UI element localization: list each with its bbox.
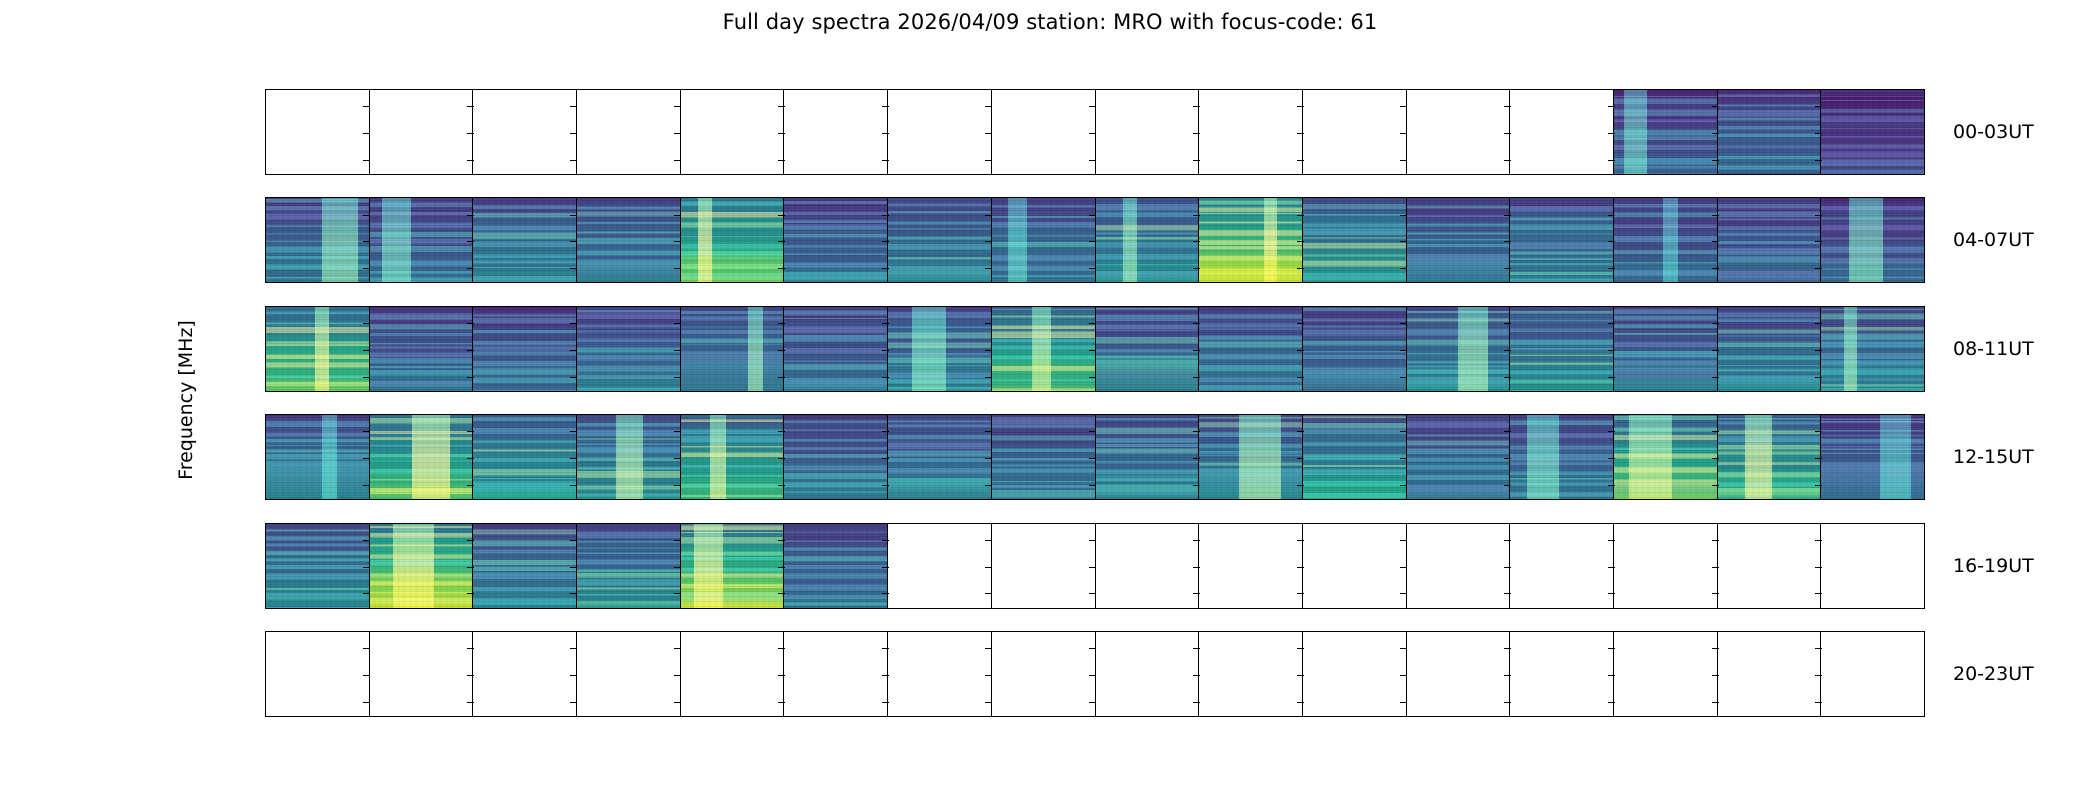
- y-tick-mark-inner: [467, 323, 474, 324]
- spectrogram-texture: [992, 198, 1095, 282]
- y-tick-mark-inner: [1400, 675, 1407, 676]
- y-tick-mark-inner: [1608, 540, 1615, 541]
- spectrogram-subpanel-empty[interactable]: [1199, 632, 1303, 716]
- y-tick-mark-inner: [778, 648, 785, 649]
- y-tick-mark: [265, 350, 266, 351]
- spectrogram-subpanel-empty[interactable]: [992, 90, 1096, 174]
- spectrogram-subpanel[interactable]: [1718, 198, 1822, 282]
- spectrogram-subpanel-empty[interactable]: [1510, 90, 1614, 174]
- y-tick-mark-inner: [778, 567, 785, 568]
- y-tick-mark-inner: [1815, 133, 1822, 134]
- spectrogram-subpanel-empty[interactable]: [266, 632, 370, 716]
- spectrogram-texture: [1718, 198, 1821, 282]
- y-tick-mark-inner: [467, 540, 474, 541]
- y-tick-mark-inner: [1089, 540, 1096, 541]
- y-tick-mark-inner: [985, 593, 992, 594]
- spectrogram-texture: [1614, 198, 1717, 282]
- x-tick-mark: [577, 716, 578, 717]
- time-column-texture: [681, 524, 784, 608]
- y-tick-mark-inner: [1297, 268, 1304, 269]
- y-tick-mark-inner: [1712, 431, 1719, 432]
- spectrogram-subpanel[interactable]: [370, 415, 474, 499]
- spectrogram-texture: [1821, 90, 1924, 174]
- y-tick-mark-inner: [778, 458, 785, 459]
- y-tick-mark-inner: [985, 567, 992, 568]
- spectrogram-texture: [370, 307, 473, 391]
- y-tick-mark-inner: [882, 540, 889, 541]
- y-tick-mark-inner: [1089, 160, 1096, 161]
- y-tick-mark-inner: [363, 702, 370, 703]
- time-column-texture: [1096, 198, 1199, 282]
- y-tick-mark-inner: [1400, 567, 1407, 568]
- spectrogram-subpanel-empty[interactable]: [784, 632, 888, 716]
- y-tick-mark-inner: [882, 160, 889, 161]
- y-tick-mark-inner: [1608, 702, 1615, 703]
- y-tick-mark-inner: [1608, 323, 1615, 324]
- spectrogram-texture: [473, 415, 576, 499]
- y-tick-mark-inner: [1297, 648, 1304, 649]
- y-tick-mark: [265, 215, 266, 216]
- y-tick-mark-inner: [778, 268, 785, 269]
- y-tick-mark-inner: [778, 106, 785, 107]
- y-tick-mark-inner: [467, 215, 474, 216]
- spectrogram-subpanel[interactable]: [577, 524, 681, 608]
- spectrogram-subpanel-empty[interactable]: [1821, 632, 1924, 716]
- y-tick-mark-inner: [1400, 323, 1407, 324]
- y-tick-mark-inner: [985, 675, 992, 676]
- spectrogram-subpanel-empty[interactable]: [681, 632, 785, 716]
- y-tick-mark-inner: [985, 268, 992, 269]
- y-tick-mark-inner: [778, 350, 785, 351]
- spectrogram-texture: [1407, 307, 1510, 391]
- time-column-texture: [1821, 415, 1924, 499]
- time-column-texture: [1407, 307, 1510, 391]
- spectrogram-subpanel[interactable]: [266, 524, 370, 608]
- y-tick-mark-inner: [363, 377, 370, 378]
- spectrogram-subpanel-empty[interactable]: [1821, 524, 1924, 608]
- spectrogram-subpanel[interactable]: [1303, 415, 1407, 499]
- spectrogram-texture: [1303, 415, 1406, 499]
- x-tick-mark: [1407, 716, 1408, 717]
- spectrogram-subpanel[interactable]: [1821, 90, 1924, 174]
- y-tick-mark-inner: [674, 485, 681, 486]
- spectrogram-subpanel-empty[interactable]: [473, 632, 577, 716]
- spectrogram-subpanel[interactable]: [681, 524, 785, 608]
- y-tick-mark-inner: [363, 648, 370, 649]
- y-tick-mark-inner: [363, 593, 370, 594]
- spectrogram-subpanel[interactable]: [681, 307, 785, 391]
- time-column-texture: [266, 198, 369, 282]
- spectrogram-texture: [577, 524, 680, 608]
- y-tick-mark: [265, 323, 266, 324]
- y-tick-mark-inner: [1815, 540, 1822, 541]
- y-tick-mark-inner: [1608, 377, 1615, 378]
- y-tick-mark-inner: [1712, 268, 1719, 269]
- y-tick-mark-inner: [674, 648, 681, 649]
- y-tick-mark-inner: [1608, 106, 1615, 107]
- spectrogram-subpanel[interactable]: [1407, 415, 1511, 499]
- y-tick-mark: [265, 648, 266, 649]
- y-tick-mark-inner: [1193, 458, 1200, 459]
- y-tick-mark: [265, 567, 266, 568]
- y-tick-mark-inner: [778, 675, 785, 676]
- y-tick-mark-inner: [882, 377, 889, 378]
- y-tick-mark-inner: [1712, 323, 1719, 324]
- y-tick-mark-inner: [363, 485, 370, 486]
- y-tick-mark-inner: [1400, 593, 1407, 594]
- time-column-texture: [1096, 307, 1199, 391]
- y-tick-mark-inner: [1400, 215, 1407, 216]
- spectrogram-subpanel-empty[interactable]: [992, 632, 1096, 716]
- y-tick-mark-inner: [1608, 160, 1615, 161]
- spectrogram-subpanel[interactable]: [473, 415, 577, 499]
- spectrogram-subpanel[interactable]: [1614, 415, 1718, 499]
- y-tick-mark-inner: [1712, 567, 1719, 568]
- spectrogram-subpanel[interactable]: [1096, 415, 1200, 499]
- spectrogram-subpanel[interactable]: [888, 415, 992, 499]
- spectrogram-subpanel[interactable]: [888, 198, 992, 282]
- spectrogram-subpanel[interactable]: [888, 307, 992, 391]
- spectrogram-subpanel[interactable]: [1614, 90, 1718, 174]
- time-column-texture: [1096, 415, 1199, 499]
- y-tick-mark-inner: [1089, 675, 1096, 676]
- spectrogram-subpanel[interactable]: [1821, 307, 1924, 391]
- spectrogram-subpanel-empty[interactable]: [577, 90, 681, 174]
- row-label-04-07ut: 04-07UT: [1953, 229, 2034, 251]
- spectrogram-subpanel-empty[interactable]: [1510, 524, 1614, 608]
- y-tick-mark-inner: [467, 106, 474, 107]
- spectrogram-subpanel[interactable]: [1614, 307, 1718, 391]
- y-tick-mark-inner: [674, 567, 681, 568]
- y-tick-mark-inner: [1297, 593, 1304, 594]
- x-tick-mark: [1615, 716, 1616, 717]
- time-column-texture: [1199, 198, 1302, 282]
- spectrogram-row-04-07ut[interactable]: 755025: [265, 197, 1925, 283]
- y-tick-mark-inner: [1089, 458, 1096, 459]
- spectrogram-texture: [473, 198, 576, 282]
- spectrogram-subpanel[interactable]: [784, 524, 888, 608]
- time-column-texture: [473, 524, 576, 608]
- time-column-texture: [1718, 415, 1821, 499]
- y-tick-mark-inner: [1400, 458, 1407, 459]
- y-tick-mark-inner: [363, 215, 370, 216]
- x-tick-mark: [1511, 716, 1512, 717]
- y-tick-mark-inner: [1504, 241, 1511, 242]
- spectrogram-subpanel[interactable]: [992, 198, 1096, 282]
- time-column-texture: [370, 524, 473, 608]
- spectrogram-subpanel-empty[interactable]: [370, 90, 474, 174]
- y-tick-mark-inner: [1815, 268, 1822, 269]
- spectrogram-subpanel-empty[interactable]: [1199, 524, 1303, 608]
- spectrogram-subpanel[interactable]: [1407, 198, 1511, 282]
- spectrogram-subpanel[interactable]: [1407, 307, 1511, 391]
- y-tick-mark-inner: [1504, 702, 1511, 703]
- spectrogram-texture: [1510, 415, 1613, 499]
- y-tick-mark-inner: [570, 350, 577, 351]
- spectrogram-subpanel[interactable]: [266, 307, 370, 391]
- spectrogram-subpanel-empty[interactable]: [1718, 632, 1822, 716]
- y-tick-mark-inner: [363, 241, 370, 242]
- y-tick-mark-inner: [778, 702, 785, 703]
- spectrogram-subpanel-empty[interactable]: [1614, 632, 1718, 716]
- spectrogram-subpanel[interactable]: [1614, 198, 1718, 282]
- y-tick-mark-inner: [1297, 133, 1304, 134]
- spectrogram-subpanel-empty[interactable]: [1303, 90, 1407, 174]
- x-tick-mark: [992, 716, 993, 717]
- spectrogram-texture: [1718, 415, 1821, 499]
- spectrogram-row-00-03ut[interactable]: 755025: [265, 89, 1925, 175]
- spectrogram-subpanel-empty[interactable]: [1096, 632, 1200, 716]
- spectrogram-subpanel[interactable]: [681, 415, 785, 499]
- y-tick-mark-inner: [1504, 133, 1511, 134]
- spectrogram-subpanel[interactable]: [1821, 415, 1924, 499]
- y-tick-mark-inner: [674, 593, 681, 594]
- spectrogram-subpanel-empty[interactable]: [473, 90, 577, 174]
- y-tick-mark-inner: [674, 540, 681, 541]
- time-column-texture: [1303, 415, 1406, 499]
- spectrogram-subpanel[interactable]: [370, 198, 474, 282]
- y-tick-mark-inner: [778, 160, 785, 161]
- spectrogram-subpanel-empty[interactable]: [784, 90, 888, 174]
- y-tick-mark: [265, 106, 266, 107]
- time-column-texture: [992, 198, 1095, 282]
- spectrogram-subpanel-empty[interactable]: [888, 90, 992, 174]
- spectrogram-subpanel[interactable]: [784, 198, 888, 282]
- spectrogram-subpanel-empty[interactable]: [992, 524, 1096, 608]
- spectrogram-texture: [266, 198, 369, 282]
- y-tick-mark-inner: [882, 350, 889, 351]
- spectrogram-texture: [1821, 307, 1924, 391]
- y-tick-mark-inner: [985, 431, 992, 432]
- spectrogram-subpanel[interactable]: [1199, 307, 1303, 391]
- y-tick-mark-inner: [1297, 485, 1304, 486]
- spectrogram-subpanel-empty[interactable]: [577, 632, 681, 716]
- spectrogram-subpanel[interactable]: [1718, 90, 1822, 174]
- y-tick-mark-inner: [985, 377, 992, 378]
- y-tick-mark-inner: [674, 702, 681, 703]
- spectrogram-subpanel-empty[interactable]: [1407, 632, 1511, 716]
- spectrogram-subpanel[interactable]: [473, 198, 577, 282]
- time-column-texture: [888, 198, 991, 282]
- spectrogram-subpanel[interactable]: [473, 307, 577, 391]
- y-tick-mark-inner: [1297, 702, 1304, 703]
- y-tick-mark-inner: [1297, 160, 1304, 161]
- x-tick-mark: [1822, 716, 1823, 717]
- time-column-texture: [1303, 198, 1406, 282]
- y-tick-mark-inner: [1712, 702, 1719, 703]
- y-tick-mark-inner: [882, 485, 889, 486]
- spectrogram-texture: [992, 307, 1095, 391]
- y-tick-mark-inner: [1815, 241, 1822, 242]
- time-column-texture: [1303, 307, 1406, 391]
- y-tick-mark-inner: [1193, 702, 1200, 703]
- y-tick-mark-inner: [1815, 377, 1822, 378]
- spectrogram-texture: [370, 415, 473, 499]
- time-column-texture: [577, 415, 680, 499]
- y-tick-mark-inner: [1089, 567, 1096, 568]
- y-tick-mark-inner: [1504, 377, 1511, 378]
- time-column-texture: [1510, 307, 1613, 391]
- spectrogram-subpanel[interactable]: [1199, 198, 1303, 282]
- spectrogram-row-12-15ut[interactable]: 755025: [265, 414, 1925, 500]
- y-tick-mark-inner: [1400, 485, 1407, 486]
- y-tick-mark-inner: [1712, 160, 1719, 161]
- y-tick-mark-inner: [1297, 675, 1304, 676]
- x-tick-mark: [1200, 716, 1201, 717]
- spectrogram-subpanel-empty[interactable]: [1407, 90, 1511, 174]
- spectrogram-subpanel-empty[interactable]: [888, 632, 992, 716]
- spectrogram-subpanel-empty[interactable]: [370, 632, 474, 716]
- spectrogram-subpanel[interactable]: [1303, 198, 1407, 282]
- spectrogram-subpanel[interactable]: [370, 307, 474, 391]
- y-tick-mark-inner: [467, 241, 474, 242]
- y-tick-mark-inner: [570, 377, 577, 378]
- row-label-16-19ut: 16-19UT: [1953, 555, 2034, 577]
- spectrogram-subpanel[interactable]: [992, 415, 1096, 499]
- spectrogram-texture: [1407, 415, 1510, 499]
- x-tick-mark: [785, 716, 786, 717]
- y-tick-mark-inner: [1712, 133, 1719, 134]
- y-tick-mark-inner: [1712, 106, 1719, 107]
- spectrogram-subpanel-empty[interactable]: [1303, 524, 1407, 608]
- y-tick-mark-inner: [1400, 702, 1407, 703]
- spectrogram-subpanel[interactable]: [992, 307, 1096, 391]
- y-tick-mark: [265, 133, 266, 134]
- y-tick-mark-inner: [985, 215, 992, 216]
- y-tick-mark-inner: [467, 702, 474, 703]
- y-tick-mark-inner: [1608, 350, 1615, 351]
- spectrogram-subpanel-empty[interactable]: [1303, 632, 1407, 716]
- spectrogram-subpanel[interactable]: [784, 415, 888, 499]
- spectrogram-subpanel[interactable]: [1303, 307, 1407, 391]
- y-tick-mark-inner: [985, 106, 992, 107]
- spectrogram-texture: [681, 415, 784, 499]
- spectrogram-subpanel-empty[interactable]: [1199, 90, 1303, 174]
- spectrogram-subpanel-empty[interactable]: [1718, 524, 1822, 608]
- spectrogram-subpanel[interactable]: [1821, 198, 1924, 282]
- spectrogram-subpanel-empty[interactable]: [1614, 524, 1718, 608]
- spectrogram-row-16-19ut[interactable]: 755025: [265, 523, 1925, 609]
- spectrogram-texture: [266, 524, 369, 608]
- y-tick-mark-inner: [1193, 133, 1200, 134]
- spectrogram-texture: [681, 524, 784, 608]
- spectrogram-subpanel-empty[interactable]: [681, 90, 785, 174]
- spectrogram-subpanel[interactable]: [577, 307, 681, 391]
- spectrogram-subpanel-empty[interactable]: [1096, 90, 1200, 174]
- spectrogram-subpanel[interactable]: [1718, 415, 1822, 499]
- y-tick-mark-inner: [1504, 675, 1511, 676]
- spectrogram-subpanel[interactable]: [577, 415, 681, 499]
- spectrogram-subpanel[interactable]: [473, 524, 577, 608]
- y-tick-mark-inner: [674, 160, 681, 161]
- spectrogram-subpanel[interactable]: [370, 524, 474, 608]
- spectrogram-subpanel[interactable]: [1096, 198, 1200, 282]
- y-tick-mark-inner: [1297, 567, 1304, 568]
- y-tick-mark-inner: [1504, 323, 1511, 324]
- y-tick-mark-inner: [1193, 648, 1200, 649]
- y-tick-mark-inner: [1504, 540, 1511, 541]
- y-tick-mark-inner: [363, 458, 370, 459]
- y-tick-mark-inner: [1089, 106, 1096, 107]
- y-tick-mark-inner: [882, 458, 889, 459]
- y-tick-mark-inner: [363, 567, 370, 568]
- y-tick-mark-inner: [467, 567, 474, 568]
- y-tick-mark-inner: [1400, 431, 1407, 432]
- y-tick-mark-inner: [1089, 702, 1096, 703]
- y-tick-mark-inner: [1400, 268, 1407, 269]
- time-column-texture: [784, 415, 887, 499]
- y-tick-mark-inner: [570, 675, 577, 676]
- spectrogram-subpanel-empty[interactable]: [1407, 524, 1511, 608]
- time-column-texture: [473, 307, 576, 391]
- y-tick-mark-inner: [882, 567, 889, 568]
- y-tick-mark-inner: [1815, 323, 1822, 324]
- y-tick-mark-inner: [467, 431, 474, 432]
- spectrogram-subpanel[interactable]: [1510, 415, 1614, 499]
- y-tick-mark-inner: [1193, 567, 1200, 568]
- y-tick-mark-inner: [570, 593, 577, 594]
- y-tick-mark-inner: [674, 268, 681, 269]
- y-tick-mark-inner: [985, 323, 992, 324]
- y-tick-mark-inner: [985, 350, 992, 351]
- x-tick-mark: [370, 716, 371, 717]
- y-tick-mark-inner: [674, 241, 681, 242]
- time-column-texture: [370, 415, 473, 499]
- y-tick-mark-inner: [1608, 485, 1615, 486]
- spectrogram-texture: [1096, 198, 1199, 282]
- spectrogram-subpanel[interactable]: [1510, 198, 1614, 282]
- y-tick-mark-inner: [1089, 485, 1096, 486]
- y-tick-mark-inner: [1089, 648, 1096, 649]
- spectrogram-row-08-11ut[interactable]: 755025: [265, 306, 1925, 392]
- spectrogram-row-20-23ut[interactable]: 75502500153045001530450015304500153045: [265, 631, 1925, 717]
- spectrogram-subpanel-empty[interactable]: [266, 90, 370, 174]
- spectrogram-texture: [1407, 198, 1510, 282]
- y-tick-mark-inner: [467, 160, 474, 161]
- spectrogram-texture: [784, 524, 887, 608]
- y-tick-mark-inner: [778, 323, 785, 324]
- spectrogram-subpanel[interactable]: [266, 415, 370, 499]
- y-tick-mark-inner: [1193, 377, 1200, 378]
- y-tick-mark-inner: [1193, 350, 1200, 351]
- plot-area: 75502500-03UT75502504-07UT75502508-11UT7…: [265, 89, 1925, 717]
- time-column-texture: [370, 198, 473, 282]
- spectrogram-subpanel[interactable]: [1510, 307, 1614, 391]
- y-tick-mark-inner: [1297, 377, 1304, 378]
- spectrogram-texture: [266, 307, 369, 391]
- spectrogram-subpanel[interactable]: [681, 198, 785, 282]
- y-tick-mark-inner: [1712, 675, 1719, 676]
- spectrogram-subpanel[interactable]: [784, 307, 888, 391]
- spectrogram-subpanel[interactable]: [266, 198, 370, 282]
- spectrogram-texture: [1718, 307, 1821, 391]
- spectrogram-subpanel-empty[interactable]: [1510, 632, 1614, 716]
- figure-canvas: Full day spectra 2026/04/09 station: MRO…: [0, 0, 2100, 800]
- spectrogram-subpanel[interactable]: [1718, 307, 1822, 391]
- spectrogram-subpanel[interactable]: [577, 198, 681, 282]
- spectrogram-subpanel[interactable]: [1096, 307, 1200, 391]
- y-tick-mark-inner: [985, 485, 992, 486]
- spectrogram-texture: [784, 415, 887, 499]
- y-tick-mark-inner: [1193, 268, 1200, 269]
- time-column-texture: [1718, 307, 1821, 391]
- spectrogram-subpanel-empty[interactable]: [888, 524, 992, 608]
- spectrogram-subpanel[interactable]: [1199, 415, 1303, 499]
- y-tick-mark-inner: [778, 133, 785, 134]
- y-tick-mark-inner: [1504, 593, 1511, 594]
- spectrogram-subpanel-empty[interactable]: [1096, 524, 1200, 608]
- y-tick-mark-inner: [1815, 485, 1822, 486]
